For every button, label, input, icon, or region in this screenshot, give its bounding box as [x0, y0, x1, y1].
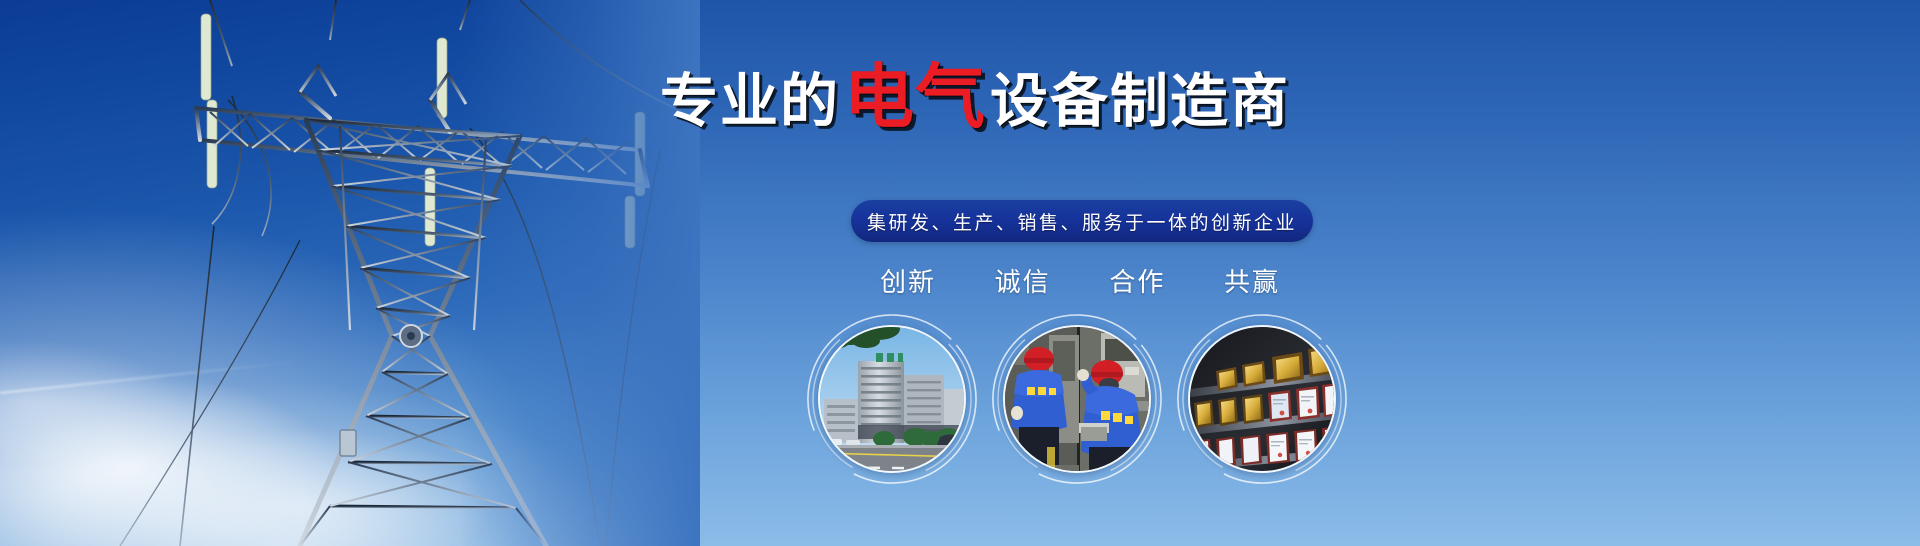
pylon-structure-icon [0, 0, 700, 546]
photo-circle-building[interactable] [818, 325, 966, 473]
headline-segment-highlight: 电气 [840, 58, 990, 136]
keyword-integrity: 诚信 [995, 262, 1051, 299]
hero-banner: 专业的电气设备制造商 集研发、生产、销售、服务于一体的创新企业 创新 诚信 合作… [0, 0, 1920, 546]
keyword-winwin: 共赢 [1224, 262, 1280, 299]
subtitle-pill-text: 集研发、生产、销售、服务于一体的创新企业 [867, 208, 1297, 235]
headline-segment-3: 设备制造商 [990, 69, 1290, 134]
photo-circle-technicians[interactable] [1003, 325, 1151, 473]
subtitle-pill: 集研发、生产、销售、服务于一体的创新企业 [851, 200, 1313, 242]
certificates-photo-thumb [1188, 325, 1336, 473]
headline-segment-1: 专业的 [660, 69, 840, 134]
photo-circle-row [818, 325, 1338, 505]
keyword-row: 创新 诚信 合作 共赢 [880, 262, 1280, 299]
transmission-tower-photo [0, 0, 700, 546]
banner-headline: 专业的电气设备制造商 [660, 66, 1220, 133]
photo-circle-certificates[interactable] [1188, 325, 1336, 473]
building-photo-thumb [818, 325, 966, 473]
technicians-photo-thumb [1003, 325, 1151, 473]
keyword-innovation: 创新 [880, 262, 936, 299]
keyword-cooperation: 合作 [1109, 262, 1165, 299]
